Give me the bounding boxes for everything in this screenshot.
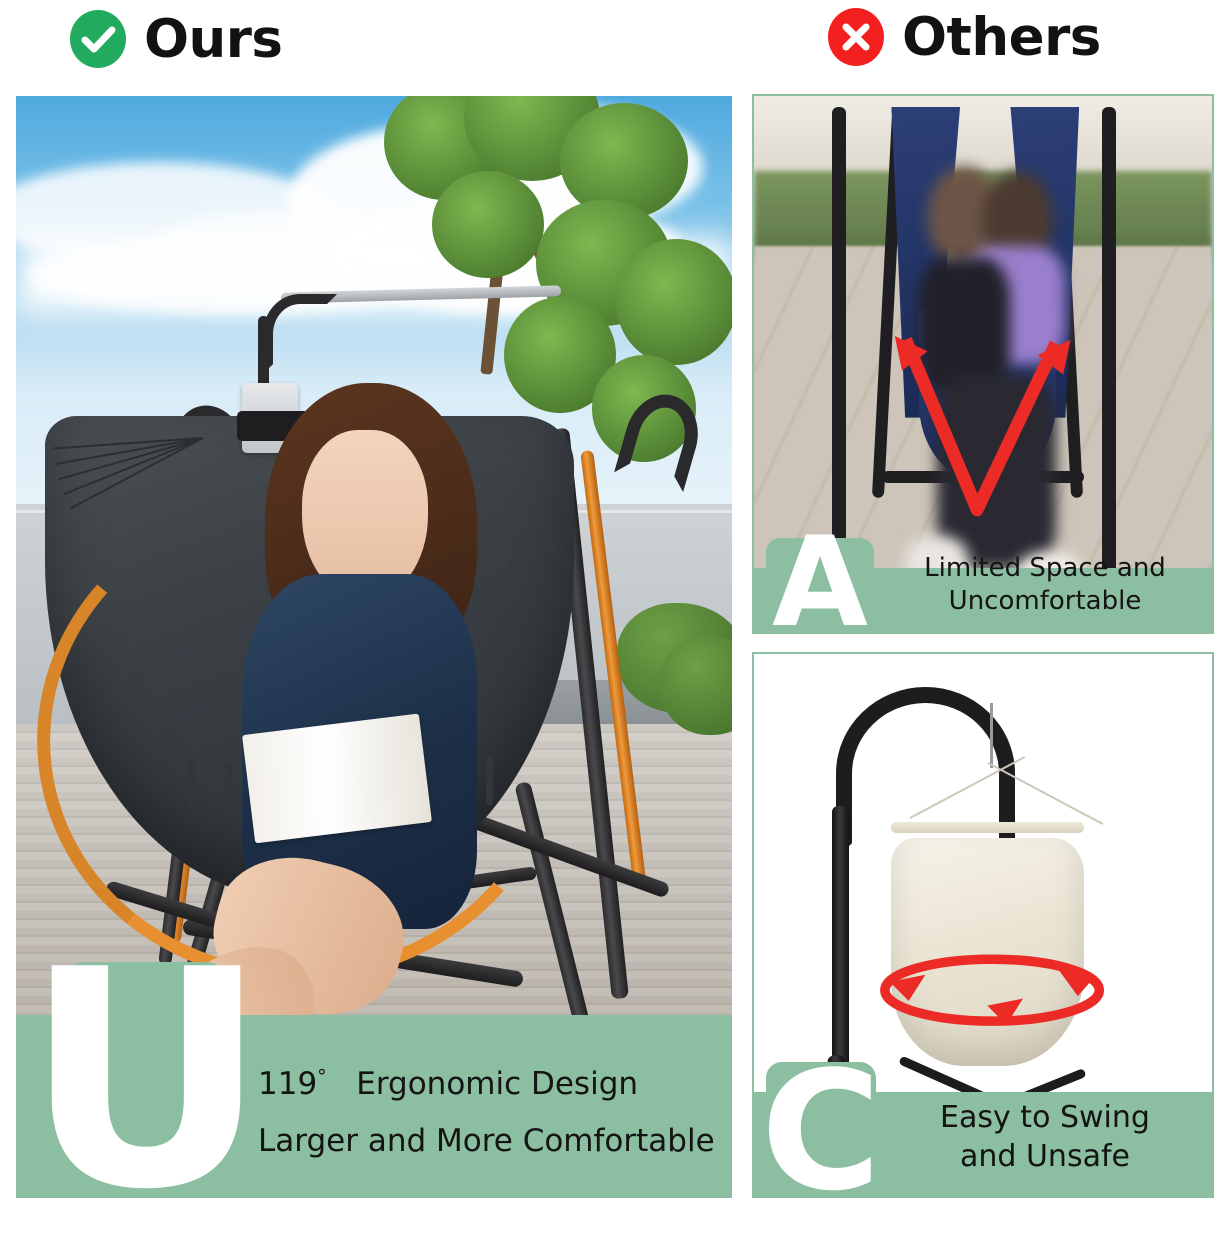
- ours-letter-badge: U: [62, 962, 230, 1198]
- ours-caption-text: 119° Ergonomic Design Larger and More Co…: [258, 1056, 718, 1171]
- others-bottom-caption-text: Easy to Swing and Unsafe: [880, 1098, 1210, 1176]
- red-rotation-arrow: [873, 936, 1111, 1044]
- ours-caption-line-2: Larger and More Comfortable: [258, 1113, 718, 1170]
- ours-caption-line-1: 119° Ergonomic Design: [258, 1056, 718, 1113]
- woman-figure: [231, 383, 517, 1066]
- tablet-arm-elbow: [263, 294, 337, 374]
- ours-label: Ours: [144, 13, 282, 66]
- frame-post-right: [1102, 107, 1116, 622]
- others-bottom-caption-line-1: Easy to Swing: [880, 1098, 1210, 1137]
- others-top-caption-text: Limited Space and Uncomfortable: [880, 552, 1210, 619]
- ours-header: Ours: [70, 10, 282, 68]
- check-circle-icon: [70, 10, 126, 68]
- others-top-letter-badge: A: [766, 538, 874, 632]
- hanging-chain: [990, 703, 993, 768]
- others-top-caption-line-2: Uncomfortable: [880, 585, 1210, 618]
- comparison-infographic: Ours Others: [0, 0, 1214, 1214]
- red-v-annotation: [891, 332, 1074, 525]
- c-stand-curve: [836, 687, 1015, 860]
- spreader-bar: [891, 822, 1083, 833]
- ours-caption-line-1-text: Ergonomic Design: [356, 1066, 638, 1102]
- magazine: [242, 714, 432, 844]
- others-header: Others: [828, 8, 1101, 66]
- x-circle-icon: [828, 8, 884, 66]
- others-bottom-caption-line-2: and Unsafe: [880, 1137, 1210, 1176]
- others-label: Others: [902, 11, 1101, 64]
- others-top-caption-line-1: Limited Space and: [880, 552, 1210, 585]
- angle-value: 119: [258, 1066, 317, 1102]
- others-bottom-letter-badge: C: [766, 1062, 876, 1196]
- degree-symbol: °: [317, 1066, 327, 1088]
